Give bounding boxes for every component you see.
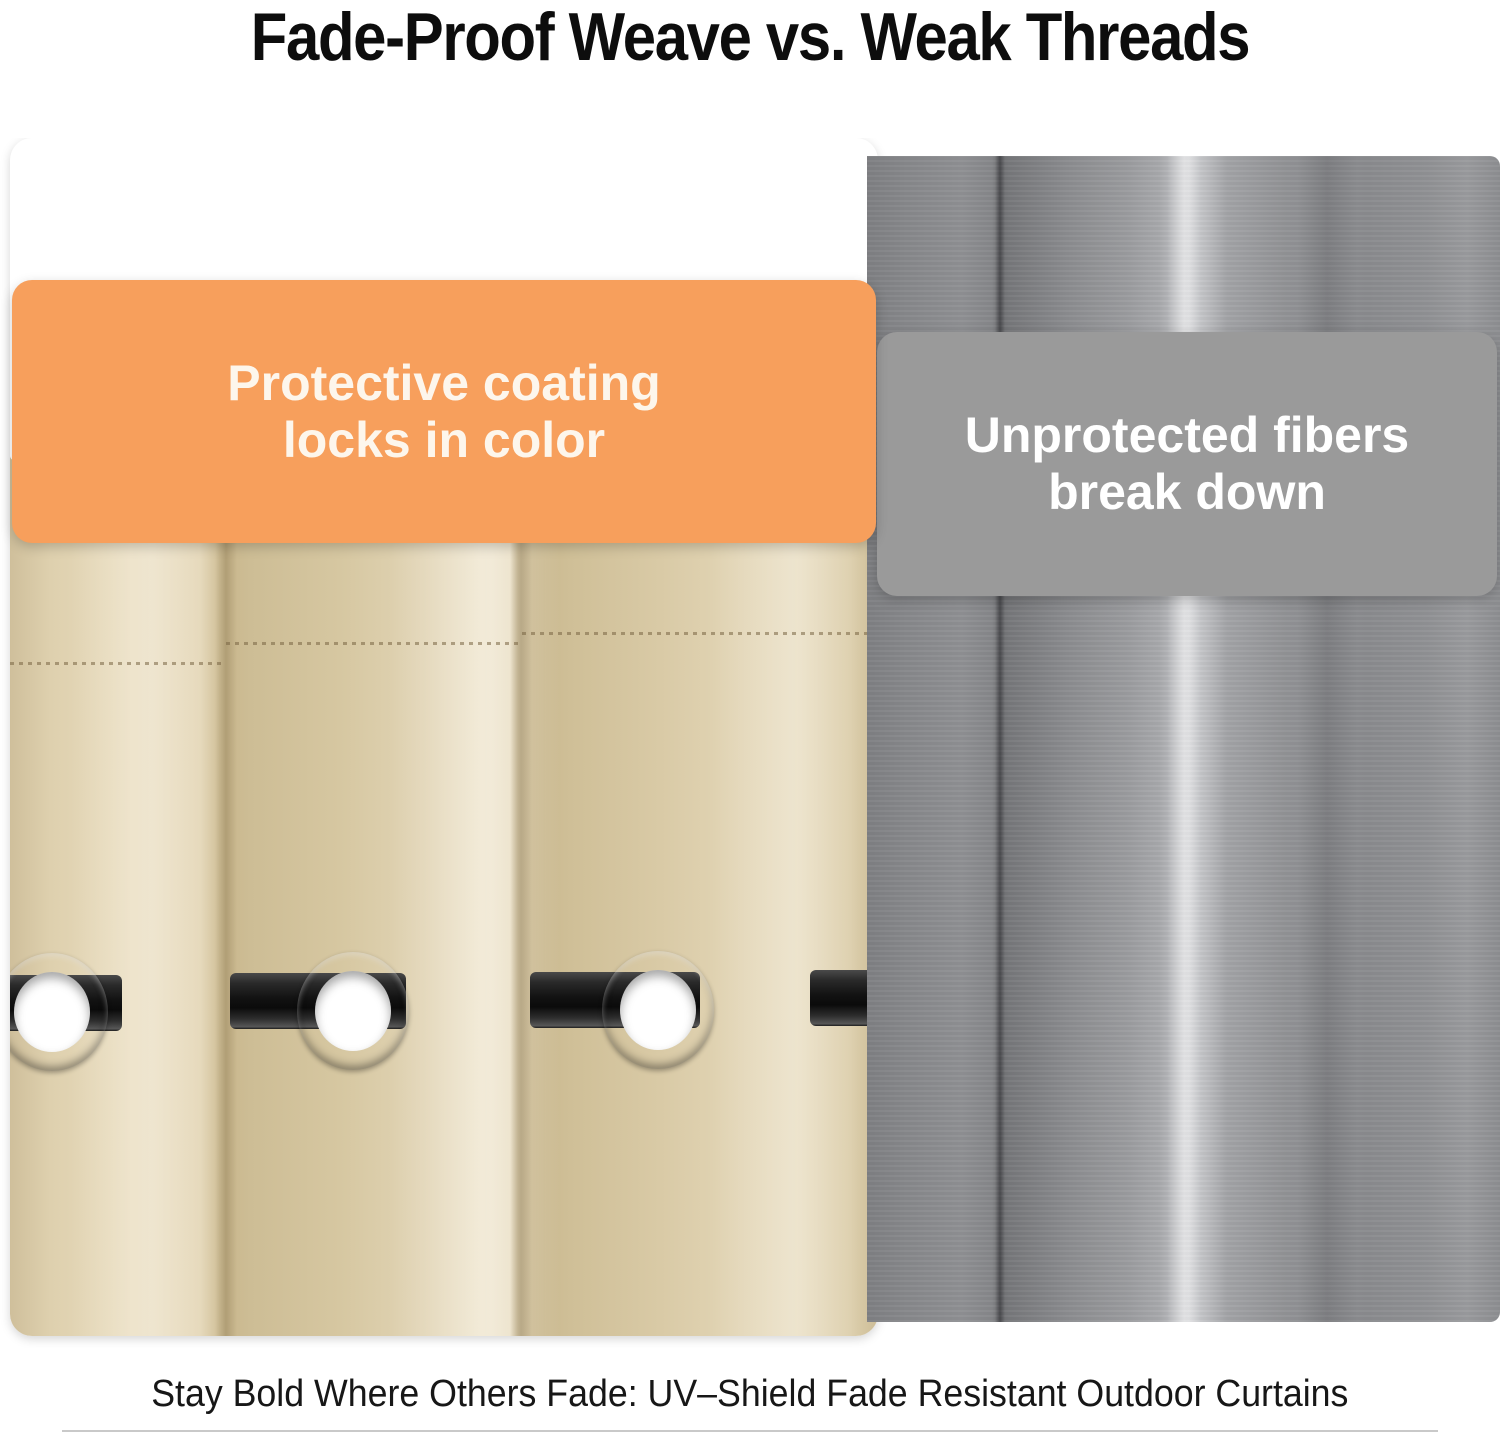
callout-unprotected-text: Unprotected fibersbreak down	[917, 407, 1458, 521]
callout-protected: Protective coatinglocks in color	[12, 280, 876, 543]
callout-protected-text: Protective coatinglocks in color	[179, 355, 708, 469]
grommet-opening-2	[315, 971, 391, 1051]
callout-protected-line1: Protective coating	[203, 355, 684, 412]
grommet-ring-2	[297, 952, 409, 1070]
infographic-page: Fade-Proof Weave vs. Weak Threads	[0, 0, 1500, 1440]
fabric-seam-1	[215, 456, 237, 1336]
page-title: Fade-Proof Weave vs. Weak Threads	[90, 0, 1410, 76]
caption-divider	[62, 1430, 1438, 1432]
stitched-hem-left	[10, 662, 222, 665]
beige-curtain-fabric	[10, 456, 878, 1336]
grommet-ring-3	[602, 951, 714, 1069]
callout-unprotected-line1: Unprotected fibers	[941, 407, 1434, 464]
grommet-opening-1	[14, 972, 90, 1052]
caption-container: Stay Bold Where Others Fade: UV–Shield F…	[0, 1372, 1500, 1416]
callout-unprotected-line2: break down	[941, 464, 1434, 521]
fabric-highlight-3	[710, 456, 860, 1336]
grommet-ring-1	[10, 953, 108, 1071]
callout-unprotected: Unprotected fibersbreak down	[877, 332, 1497, 596]
gray-curtain-fabric	[867, 156, 1500, 1322]
caption-text: Stay Bold Where Others Fade: UV–Shield F…	[151, 1372, 1348, 1416]
fabric-grain-texture	[867, 156, 1500, 1322]
stitched-hem-center	[226, 642, 518, 645]
callout-protected-line2: locks in color	[203, 412, 684, 469]
stitched-hem-right	[522, 632, 878, 635]
grommet-opening-3	[620, 970, 696, 1050]
comparison-image: Unprotected fibersbreak down Protective …	[0, 138, 1500, 1348]
fabric-seam-2	[510, 456, 532, 1336]
fabric-highlight-2	[390, 456, 560, 1336]
fabric-highlight-1	[70, 456, 220, 1336]
